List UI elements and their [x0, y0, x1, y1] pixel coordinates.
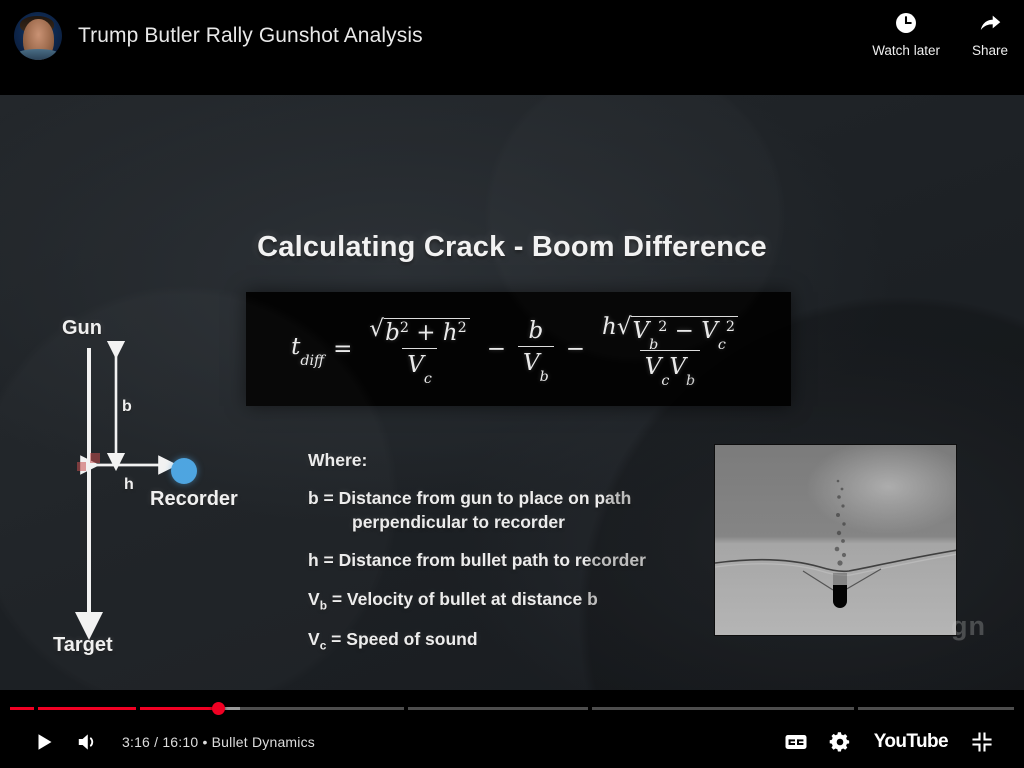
definition-vb-symbol: Vb = [308, 589, 347, 609]
diagram-label-recorder: Recorder [150, 488, 238, 511]
formula-equation: tdiff = √ b2 + h2 Vc − b Vb [291, 314, 746, 383]
chapter-segment[interactable] [858, 707, 1014, 710]
definition-b-desc: Distance from gun to place on path [339, 488, 632, 508]
gear-icon [828, 730, 852, 754]
slide-title: Calculating Crack - Boom Difference [0, 231, 1024, 264]
title-group[interactable]: Trump Butler Rally Gunshot Analysis [14, 12, 423, 60]
youtube-video-player: Calculating Crack - Boom Difference tdif… [0, 0, 1024, 768]
watch-later-label: Watch later [872, 43, 940, 58]
share-arrow-icon [977, 10, 1003, 36]
share-label: Share [972, 43, 1008, 58]
chapter-segment[interactable] [140, 707, 404, 710]
progress-bar[interactable] [0, 702, 1024, 714]
formula-minus-1: − [487, 336, 506, 362]
player-bottom-bar: 3:16 / 16:10 • Bullet Dynamics [0, 690, 1024, 768]
exit-fullscreen-icon [970, 730, 994, 754]
diagram-label-gun: Gun [62, 317, 102, 340]
where-label: Where: [308, 448, 646, 472]
avatar-shoulders [16, 49, 60, 60]
closed-captions-icon [783, 729, 809, 755]
definition-vb-desc: Velocity of bullet at distance b [347, 589, 598, 609]
formula-term-3: h√Vb2 − Vc2 VcVb [597, 314, 743, 383]
diagram-blip [77, 462, 86, 471]
definition-b: b = Distance from gun to place on path p… [308, 486, 646, 534]
share-button[interactable]: Share [972, 10, 1008, 58]
left-controls: 3:16 / 16:10 • Bullet Dynamics [0, 720, 315, 764]
subtitles-button[interactable] [774, 720, 818, 764]
gun-target-recorder-diagram: Gun Target Recorder b h [50, 310, 280, 670]
volume-button[interactable] [66, 720, 110, 764]
watch-later-button[interactable]: Watch later [872, 10, 940, 58]
progress-scrubber[interactable] [212, 702, 225, 715]
formula-minus-2: − [566, 336, 585, 362]
chapter-segment[interactable] [592, 707, 854, 710]
diagram-label-b: b [122, 398, 132, 416]
diagram-label-h: h [124, 476, 134, 494]
clock-icon [893, 10, 919, 36]
volume-icon [75, 729, 101, 755]
right-controls: YouTube [774, 720, 1024, 764]
video-frame[interactable]: Calculating Crack - Boom Difference tdif… [0, 95, 1024, 690]
formula-lhs: tdiff [291, 334, 324, 364]
formula-term-1: √ b2 + h2 Vc [364, 316, 474, 382]
chapter-segment[interactable] [10, 707, 34, 710]
player-top-bar: Trump Butler Rally Gunshot Analysis Watc… [0, 0, 1024, 95]
watch-on-youtube-button[interactable]: YouTube [862, 731, 960, 753]
chapter-segment[interactable] [408, 707, 588, 710]
avatar[interactable] [14, 12, 62, 60]
definition-b-cont: perpendicular to recorder [308, 510, 646, 534]
definition-h-text: h = [308, 550, 339, 570]
video-title[interactable]: Trump Butler Rally Gunshot Analysis [78, 24, 423, 48]
recorder-marker [171, 458, 197, 484]
watermark: gn [951, 611, 986, 642]
shockwave-svg [715, 445, 957, 636]
definition-h: h = Distance from bullet path to recorde… [308, 548, 646, 572]
top-actions: Watch later Share [872, 10, 1008, 58]
play-icon [32, 730, 56, 754]
play-button[interactable] [22, 720, 66, 764]
formula-equals: = [333, 336, 352, 362]
definition-vc-desc: Speed of sound [346, 629, 477, 649]
definition-vc: Vc = Speed of sound [308, 627, 646, 654]
definition-h-desc: Distance from bullet path to recorder [339, 550, 646, 570]
formula-box: tdiff = √ b2 + h2 Vc − b Vb [246, 292, 791, 406]
controls-row: 3:16 / 16:10 • Bullet Dynamics [0, 718, 1024, 766]
bullet-shockwave-photo [714, 444, 957, 636]
time-display: 3:16 / 16:10 • Bullet Dynamics [122, 734, 315, 750]
definition-vc-symbol: Vc = [308, 629, 346, 649]
formula-term-2: b Vb [518, 318, 554, 380]
definitions-list: Where: b = Distance from gun to place on… [308, 448, 646, 668]
definition-vb: Vb = Velocity of bullet at distance b [308, 587, 646, 614]
fullscreen-button[interactable] [960, 720, 1004, 764]
diagram-label-target: Target [53, 634, 113, 657]
chapter-segment[interactable] [38, 707, 136, 710]
diagram-blip [90, 453, 100, 463]
definition-b-text: b = [308, 488, 339, 508]
settings-button[interactable] [818, 720, 862, 764]
